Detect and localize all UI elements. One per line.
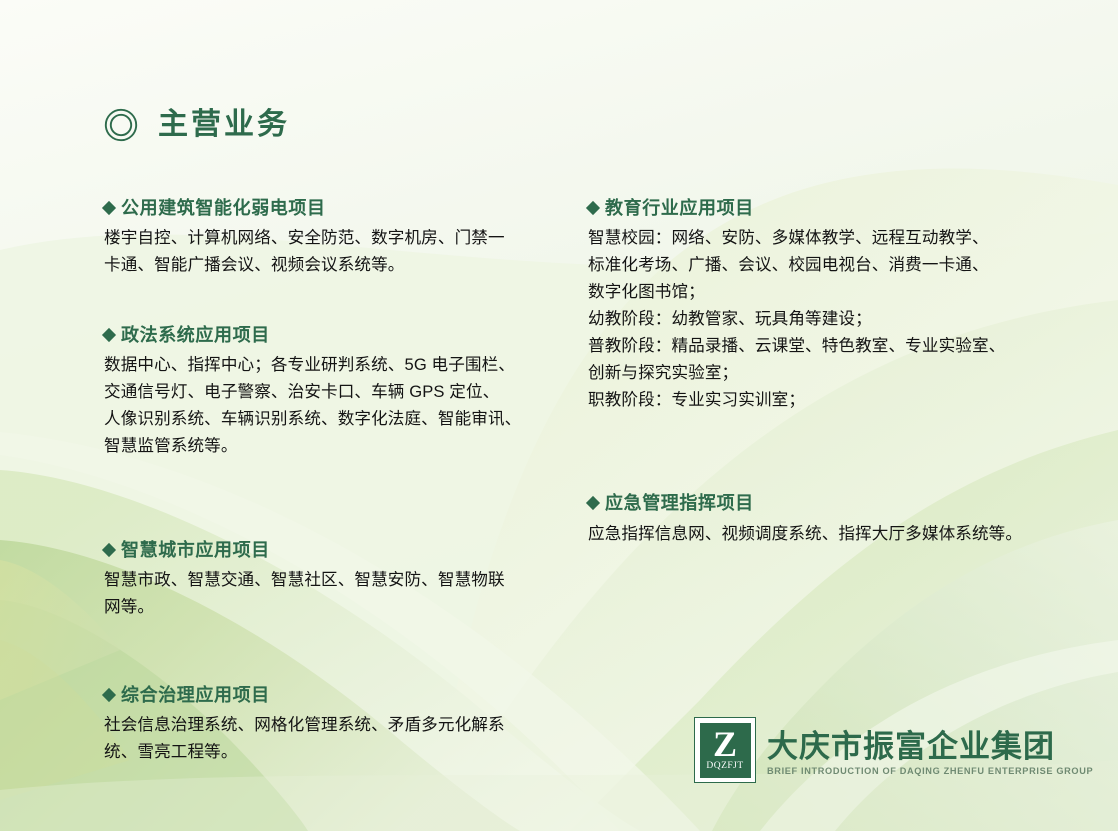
- block-body: 楼宇自控、计算机网络、安全防范、数字机房、门禁一 卡通、智能广播会议、视频会议系…: [104, 225, 556, 279]
- diamond-bullet-icon: [586, 496, 600, 510]
- block-heading: 综合治理应用项目: [104, 683, 556, 707]
- block-heading: 教育行业应用项目: [588, 196, 1058, 220]
- spacer: [104, 460, 556, 538]
- body-line: 智慧校园：网络、安防、多媒体教学、远程互动教学、: [588, 225, 1058, 252]
- diamond-bullet-icon: [102, 688, 116, 702]
- body-line: 交通信号灯、电子警察、治安卡口、车辆 GPS 定位、: [104, 379, 556, 406]
- block-heading: 公用建筑智能化弱电项目: [104, 196, 556, 220]
- block-body: 社会信息治理系统、网格化管理系统、矛盾多元化解系 统、雪亮工程等。: [104, 712, 556, 766]
- body-line: 卡通、智能广播会议、视频会议系统等。: [104, 252, 556, 279]
- block-heading-label: 综合治理应用项目: [121, 683, 270, 707]
- left-column: 公用建筑智能化弱电项目 楼宇自控、计算机网络、安全防范、数字机房、门禁一 卡通、…: [104, 196, 556, 766]
- diamond-bullet-icon: [102, 543, 116, 557]
- block-heading: 应急管理指挥项目: [588, 491, 1058, 515]
- logo-abbreviation: DQZFJT: [706, 762, 743, 772]
- diamond-bullet-icon: [102, 328, 116, 342]
- diamond-bullet-icon: [586, 201, 600, 215]
- company-logo: Z DQZFJT 大庆市振富企业集团 BRIEF INTRODUCTION OF…: [694, 717, 1093, 783]
- body-line: 数据中心、指挥中心；各专业研判系统、5G 电子围栏、: [104, 352, 556, 379]
- block-heading-label: 政法系统应用项目: [121, 323, 270, 347]
- body-line: 创新与探究实验室；: [588, 360, 1058, 387]
- business-block-legal-system: 政法系统应用项目 数据中心、指挥中心；各专业研判系统、5G 电子围栏、 交通信号…: [104, 323, 556, 460]
- block-body: 智慧市政、智慧交通、智慧社区、智慧安防、智慧物联 网等。: [104, 567, 556, 621]
- block-heading-label: 教育行业应用项目: [605, 196, 754, 220]
- body-line: 社会信息治理系统、网格化管理系统、矛盾多元化解系: [104, 712, 556, 739]
- spacer: [104, 279, 556, 323]
- slide-page: 主营业务 公用建筑智能化弱电项目 楼宇自控、计算机网络、安全防范、数字机房、门禁…: [0, 0, 1118, 831]
- business-block-public-building: 公用建筑智能化弱电项目 楼宇自控、计算机网络、安全防范、数字机房、门禁一 卡通、…: [104, 196, 556, 279]
- block-heading-label: 公用建筑智能化弱电项目: [121, 196, 326, 220]
- business-block-smart-city: 智慧城市应用项目 智慧市政、智慧交通、智慧社区、智慧安防、智慧物联 网等。: [104, 538, 556, 621]
- business-block-comprehensive-governance: 综合治理应用项目 社会信息治理系统、网格化管理系统、矛盾多元化解系 统、雪亮工程…: [104, 683, 556, 766]
- spacer: [588, 413, 1058, 491]
- block-heading: 政法系统应用项目: [104, 323, 556, 347]
- company-name-cn: 大庆市振富企业集团: [767, 731, 1093, 762]
- block-body: 应急指挥信息网、视频调度系统、指挥大厅多媒体系统等。: [588, 521, 1058, 548]
- logo-letter: Z: [713, 728, 737, 760]
- body-line: 统、雪亮工程等。: [104, 739, 556, 766]
- body-line: 智慧市政、智慧交通、智慧社区、智慧安防、智慧物联: [104, 567, 556, 594]
- block-body: 数据中心、指挥中心；各专业研判系统、5G 电子围栏、 交通信号灯、电子警察、治安…: [104, 352, 556, 460]
- page-title-row: 主营业务: [104, 108, 290, 142]
- body-line: 楼宇自控、计算机网络、安全防范、数字机房、门禁一: [104, 225, 556, 252]
- body-line: 数字化图书馆；: [588, 279, 1058, 306]
- body-line: 标准化考场、广播、会议、校园电视台、消费一卡通、: [588, 252, 1058, 279]
- business-block-emergency-management: 应急管理指挥项目 应急指挥信息网、视频调度系统、指挥大厅多媒体系统等。: [588, 491, 1058, 547]
- diamond-bullet-icon: [102, 201, 116, 215]
- body-line: 普教阶段：精品录播、云课堂、特色教室、专业实验室、: [588, 333, 1058, 360]
- right-column: 教育行业应用项目 智慧校园：网络、安防、多媒体教学、远程互动教学、 标准化考场、…: [588, 196, 1058, 548]
- body-line: 网等。: [104, 594, 556, 621]
- block-heading-label: 智慧城市应用项目: [121, 538, 270, 562]
- body-line: 职教阶段：专业实习实训室；: [588, 387, 1058, 414]
- spacer: [104, 621, 556, 683]
- company-name-en: BRIEF INTRODUCTION OF DAQING ZHENFU ENTE…: [767, 767, 1093, 776]
- logo-text-block: 大庆市振富企业集团 BRIEF INTRODUCTION OF DAQING Z…: [767, 717, 1093, 776]
- logo-mark-icon: Z DQZFJT: [694, 717, 756, 783]
- slide-content: 主营业务 公用建筑智能化弱电项目 楼宇自控、计算机网络、安全防范、数字机房、门禁…: [0, 0, 1118, 831]
- block-heading-label: 应急管理指挥项目: [605, 491, 754, 515]
- page-title: 主营业务: [158, 110, 290, 140]
- body-line: 应急指挥信息网、视频调度系统、指挥大厅多媒体系统等。: [588, 521, 1058, 548]
- body-line: 智慧监管系统等。: [104, 433, 556, 460]
- double-circle-icon: [104, 108, 138, 142]
- body-line: 幼教阶段：幼教管家、玩具角等建设；: [588, 306, 1058, 333]
- block-body: 智慧校园：网络、安防、多媒体教学、远程互动教学、 标准化考场、广播、会议、校园电…: [588, 225, 1058, 413]
- block-heading: 智慧城市应用项目: [104, 538, 556, 562]
- body-line: 人像识别系统、车辆识别系统、数字化法庭、智能审讯、: [104, 406, 556, 433]
- logo-mark-inner: Z DQZFJT: [698, 721, 753, 780]
- business-block-education: 教育行业应用项目 智慧校园：网络、安防、多媒体教学、远程互动教学、 标准化考场、…: [588, 196, 1058, 413]
